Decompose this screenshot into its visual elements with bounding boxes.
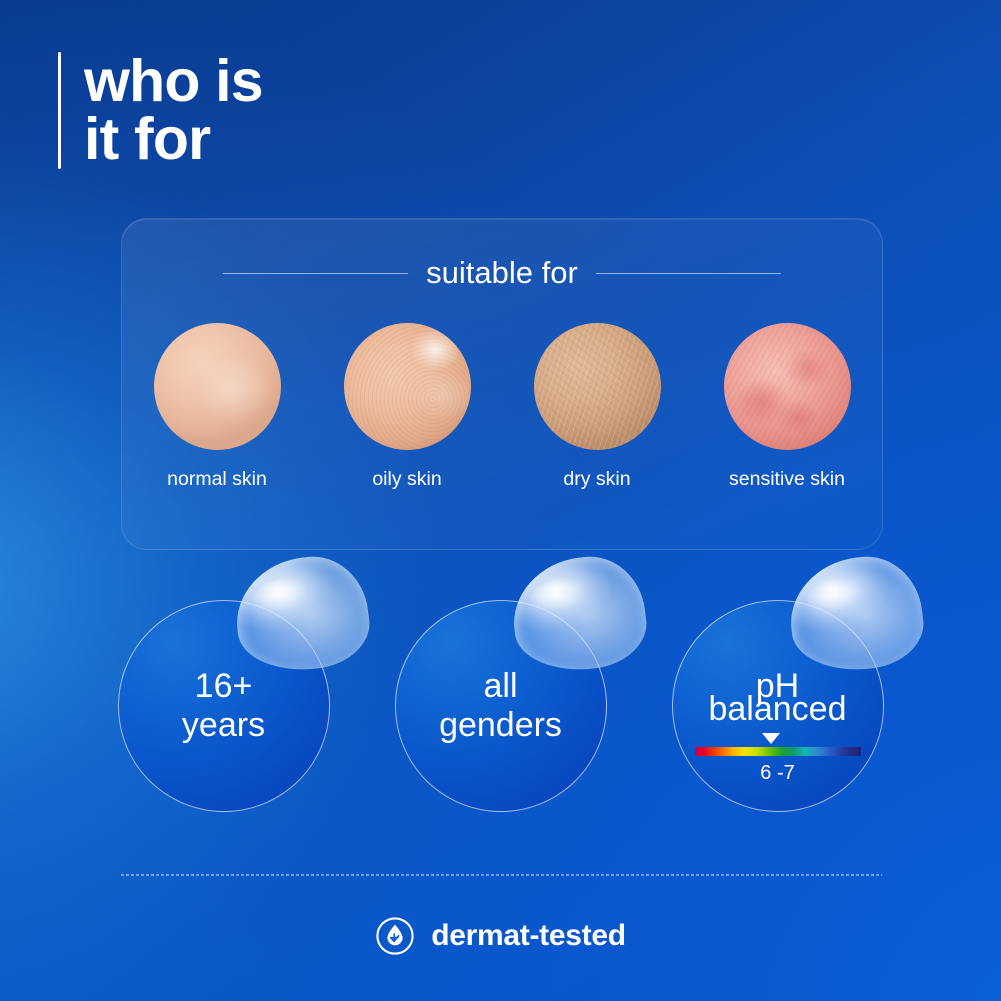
triangle-down-marker-icon xyxy=(762,733,780,744)
skin-type-item: oily skin xyxy=(343,323,471,492)
header-line-right xyxy=(596,273,781,274)
swatch-texture xyxy=(724,323,851,450)
droplet-check-badge-icon xyxy=(375,916,415,956)
skin-type-label: oily skin xyxy=(372,468,441,492)
page-title-line-1: who is xyxy=(84,48,263,114)
bubble-circle: all genders xyxy=(395,600,607,812)
footer-badge: dermat-tested xyxy=(0,916,1001,956)
skin-type-item: normal skin xyxy=(153,323,281,492)
skin-type-list: normal skin oily skin dry skin sensitive… xyxy=(122,323,882,492)
bubble-circle: 16+ years xyxy=(118,600,330,812)
skin-type-label: sensitive skin xyxy=(729,468,845,492)
page-header: who is it for xyxy=(58,52,263,169)
swatch-texture xyxy=(344,323,471,450)
page-title-line-2: it for xyxy=(84,110,263,168)
skin-type-label: normal skin xyxy=(167,468,267,492)
attribute-bubble-age: 16+ years xyxy=(118,600,330,812)
swatch-texture xyxy=(534,323,661,450)
header-accent-rule xyxy=(58,52,61,169)
dry-skin-swatch xyxy=(534,323,661,450)
bubble-label-line-1: 16+ xyxy=(195,667,253,706)
swatch-texture xyxy=(154,323,281,450)
bubble-label-line-2: years xyxy=(182,706,265,745)
ph-scale: 6 -7 xyxy=(695,747,861,785)
card-title: suitable for xyxy=(426,255,578,291)
normal-skin-swatch xyxy=(154,323,281,450)
attribute-bubble-ph: pH balanced 6 -7 xyxy=(672,600,884,812)
ph-gradient-bar xyxy=(695,747,861,756)
attribute-bubble-list: 16+ years all genders pH balanced 6 -7 xyxy=(0,600,1001,812)
skin-type-label: dry skin xyxy=(563,468,630,492)
page-title: who is it for xyxy=(84,52,263,169)
infographic-canvas: who is it for suitable for normal skin o… xyxy=(0,0,1001,1001)
ph-value-label: 6 -7 xyxy=(695,762,861,785)
bubble-label-line-2: genders xyxy=(439,706,562,745)
bubble-circle: pH balanced 6 -7 xyxy=(672,600,884,812)
sensitive-skin-swatch xyxy=(724,323,851,450)
header-line-left xyxy=(223,273,408,274)
bubble-label-line-1: all xyxy=(483,667,517,706)
skin-type-item: dry skin xyxy=(533,323,661,492)
card-header: suitable for xyxy=(122,255,882,291)
attribute-bubble-gender: all genders xyxy=(395,600,607,812)
suitable-for-card: suitable for normal skin oily skin dry s… xyxy=(121,218,883,550)
footer-label: dermat-tested xyxy=(431,919,625,953)
skin-type-item: sensitive skin xyxy=(723,323,851,492)
oily-skin-swatch xyxy=(344,323,471,450)
bubble-label-line-2: balanced xyxy=(708,690,846,729)
footer-divider xyxy=(120,874,882,876)
